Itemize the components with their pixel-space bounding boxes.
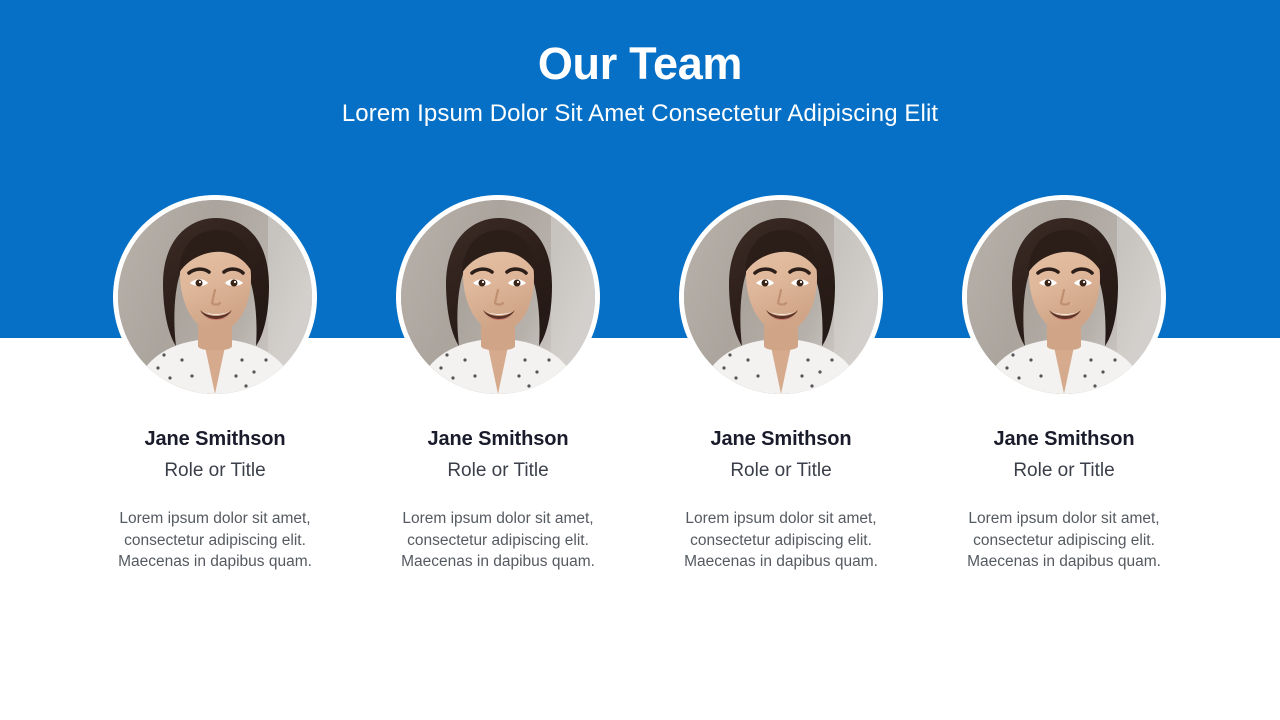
member-bio: Lorem ipsum dolor sit amet, consectetur … bbox=[102, 508, 328, 573]
member-role: Role or Title bbox=[668, 459, 894, 482]
member-name: Jane Smithson bbox=[951, 427, 1177, 451]
member-bio: Lorem ipsum dolor sit amet, consectetur … bbox=[951, 508, 1177, 573]
member-name: Jane Smithson bbox=[102, 427, 328, 451]
team-slide: Our Team Lorem Ipsum Dolor Sit Amet Cons… bbox=[0, 0, 1280, 720]
member-name: Jane Smithson bbox=[385, 427, 611, 451]
avatar bbox=[967, 200, 1161, 394]
member-role: Role or Title bbox=[102, 459, 328, 482]
team-member-card[interactable]: Jane Smithson Role or Title Lorem ipsum … bbox=[951, 200, 1177, 573]
portrait-photo-icon bbox=[118, 200, 312, 394]
team-member-card[interactable]: Jane Smithson Role or Title Lorem ipsum … bbox=[668, 200, 894, 573]
avatar bbox=[684, 200, 878, 394]
avatar bbox=[118, 200, 312, 394]
portrait-photo-icon bbox=[684, 200, 878, 394]
portrait-photo-icon bbox=[401, 200, 595, 394]
portrait-photo-icon bbox=[967, 200, 1161, 394]
member-role: Role or Title bbox=[385, 459, 611, 482]
team-member-card[interactable]: Jane Smithson Role or Title Lorem ipsum … bbox=[385, 200, 611, 573]
member-bio: Lorem ipsum dolor sit amet, consectetur … bbox=[668, 508, 894, 573]
member-bio: Lorem ipsum dolor sit amet, consectetur … bbox=[385, 508, 611, 573]
team-member-card[interactable]: Jane Smithson Role or Title Lorem ipsum … bbox=[102, 200, 328, 573]
team-member-list: Jane Smithson Role or Title Lorem ipsum … bbox=[0, 0, 1280, 720]
member-role: Role or Title bbox=[951, 459, 1177, 482]
member-name: Jane Smithson bbox=[668, 427, 894, 451]
avatar bbox=[401, 200, 595, 394]
